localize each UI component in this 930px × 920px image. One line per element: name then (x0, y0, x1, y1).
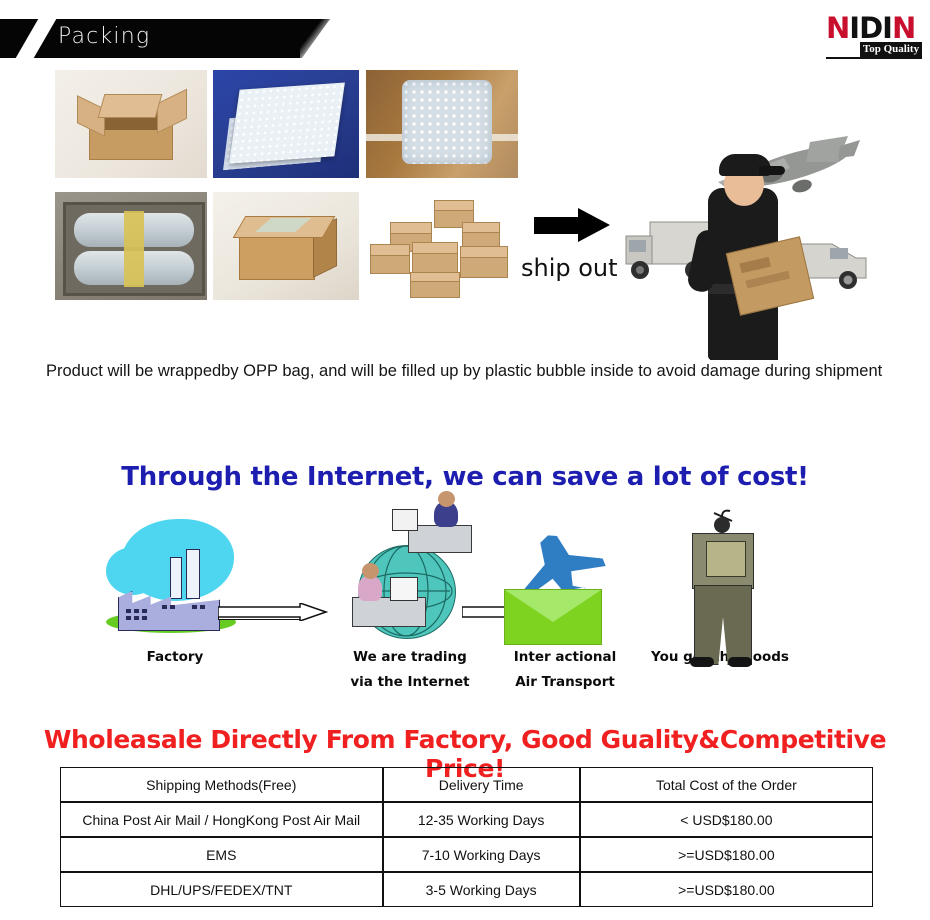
courier-delivery-photo (620, 126, 875, 371)
desk-bottom-left (352, 597, 426, 627)
laptop-icon-2 (390, 577, 418, 601)
receiver-shoe-left (690, 657, 714, 667)
cell-cost-2: >=USD$180.00 (580, 872, 873, 907)
packing-photo-grid: ship out (0, 62, 930, 312)
bubble-roll-illustration (402, 80, 492, 164)
trade-flow-diagram: Factory We are trading (0, 505, 930, 705)
boxes-pile-photo (366, 192, 518, 300)
flow-label-factory: Factory (100, 645, 250, 670)
pile-box (410, 272, 460, 298)
sky-cloud-shape-2 (106, 547, 160, 595)
internet-savings-heading: Through the Internet, we can save a lot … (0, 462, 930, 492)
table-header-total-cost: Total Cost of the Order (580, 767, 873, 802)
flow-label-air-line1: Inter actional (490, 645, 640, 670)
table-header-row: Shipping Methods(Free) Delivery Time Tot… (60, 767, 873, 802)
sealed-box-illustration (239, 216, 335, 278)
table-row: EMS 7-10 Working Days >=USD$180.00 (60, 837, 873, 872)
cell-method-1: EMS (60, 837, 383, 872)
cell-time-0: 12-35 Working Days (383, 802, 580, 837)
trader-head-1 (438, 491, 455, 507)
bubble-sheet-front (229, 82, 345, 163)
open-carton-photo (55, 70, 207, 178)
cell-method-2: DHL/UPS/FEDEX/TNT (60, 872, 383, 907)
logo-wordmark: NIDIN (826, 13, 922, 43)
cell-method-0: China Post Air Mail / HongKong Post Air … (60, 802, 383, 837)
bubble-sheet-photo (213, 70, 359, 178)
logo-tagline: Top Quality (860, 42, 922, 57)
logo-letters-idi: IDI (849, 13, 892, 43)
cell-time-2: 3-5 Working Days (383, 872, 580, 907)
pile-box (370, 244, 410, 274)
factory-chimney-1 (170, 557, 182, 599)
table-row: China Post Air Mail / HongKong Post Air … (60, 802, 873, 837)
cell-time-1: 7-10 Working Days (383, 837, 580, 872)
logo-letter-n2: N (892, 13, 915, 43)
banner-tip-decoration (300, 19, 330, 58)
cell-cost-0: < USD$180.00 (580, 802, 873, 837)
flow-step-air-transport: Inter actional Air Transport (490, 505, 640, 695)
factory-chimney-2 (186, 549, 200, 599)
pile-box (412, 242, 458, 274)
page-header: Packing NIDIN Top Quality (0, 0, 930, 62)
received-parcel (706, 541, 746, 577)
shipping-methods-table: Shipping Methods(Free) Delivery Time Tot… (60, 767, 873, 907)
laptop-icon-1 (392, 509, 418, 531)
flow-step-trading: We are trading via the Internet (330, 505, 490, 695)
flow-label-trading-line2: via the Internet (330, 670, 490, 695)
flow-step-receive: You get the goods (640, 505, 800, 670)
page-title: Packing (58, 24, 150, 49)
receiver-head (714, 517, 730, 533)
envelope-icon (504, 589, 602, 645)
pile-box (460, 246, 508, 278)
cell-cost-1: >=USD$180.00 (580, 837, 873, 872)
yellow-tape (124, 211, 144, 287)
flow-label-air-line2: Air Transport (490, 670, 640, 695)
airplane-icon (514, 531, 606, 597)
courier-cap (719, 154, 771, 176)
flow-label-trading-line1: We are trading (330, 645, 490, 670)
trader-head-2 (362, 563, 379, 579)
flow-arrow-1-icon (218, 603, 328, 621)
receiver-shoe-right (728, 657, 752, 667)
flow-label-receive: You get the goods (640, 645, 800, 670)
box-interior (63, 202, 205, 296)
ship-out-label: ship out (521, 254, 618, 282)
table-header-shipping-methods: Shipping Methods(Free) (60, 767, 383, 802)
bubble-roll-photo (366, 70, 518, 178)
packed-bags-photo (55, 192, 207, 300)
packing-description: Product will be wrappedby OPP bag, and w… (46, 352, 886, 390)
table-header-delivery-time: Delivery Time (383, 767, 580, 802)
table-row: DHL/UPS/FEDEX/TNT 3-5 Working Days >=USD… (60, 872, 873, 907)
logo-letter-n1: N (826, 13, 849, 43)
brand-logo: NIDIN Top Quality (826, 13, 922, 59)
flow-step-factory: Factory (100, 505, 250, 670)
logo-underline (826, 57, 922, 59)
open-box-illustration (77, 88, 185, 162)
ship-out-arrow-icon (534, 208, 610, 242)
sealed-carton-photo (213, 192, 359, 300)
